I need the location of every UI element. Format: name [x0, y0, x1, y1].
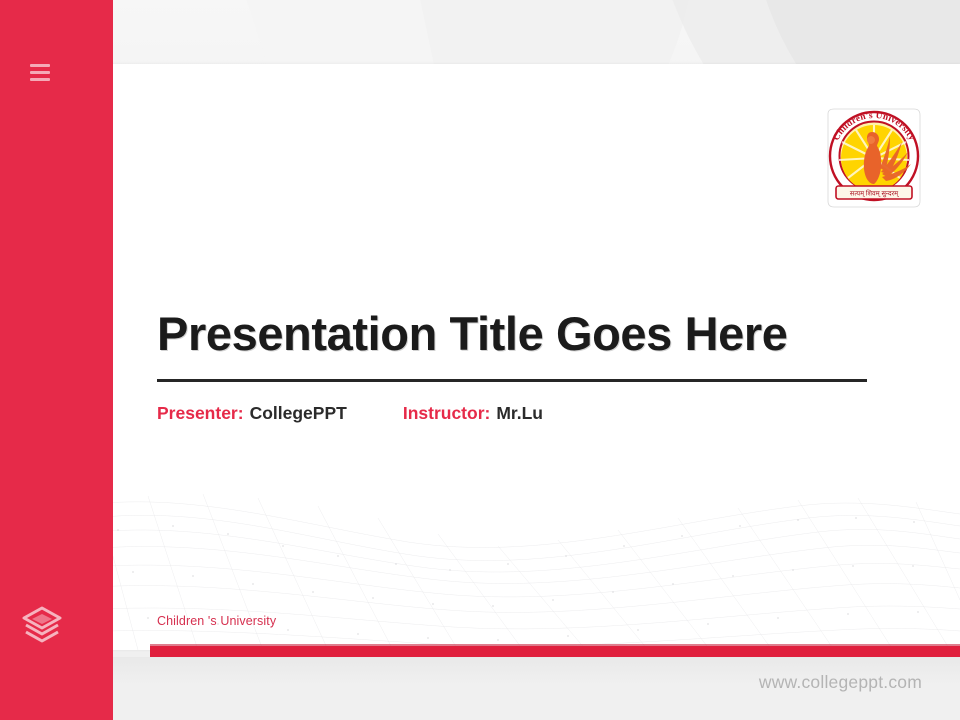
hamburger-bar-2: [30, 71, 50, 74]
credits-row: Presenter: CollegePPT Instructor: Mr.Lu: [157, 403, 543, 424]
hamburger-icon[interactable]: [30, 64, 50, 81]
presenter-label: Presenter:: [157, 403, 244, 424]
left-sidebar: [0, 0, 113, 720]
presenter-name: CollegePPT: [250, 403, 347, 424]
slide-canvas: Children's University सत्यम् शिवम् सुन्द…: [0, 0, 960, 720]
logo-motto: सत्यम् शिवम् सुन्दरम्: [850, 189, 899, 197]
university-logo: Children's University सत्यम् शिवम् सुन्द…: [818, 106, 930, 214]
instructor-name: Mr.Lu: [496, 403, 543, 424]
layers-icon[interactable]: [18, 600, 66, 648]
website-url: www.collegeppt.com: [759, 672, 922, 693]
hamburger-bar-1: [30, 64, 50, 67]
page-title: Presentation Title Goes Here: [157, 309, 887, 358]
title-divider: [157, 379, 867, 382]
slide-card: Children's University सत्यम् शिवम् सुन्द…: [78, 64, 960, 650]
hamburger-bar-3: [30, 78, 50, 81]
footer-organization: Children 's University: [157, 614, 276, 628]
accent-bar: [150, 646, 960, 657]
instructor-label: Instructor:: [403, 403, 491, 424]
